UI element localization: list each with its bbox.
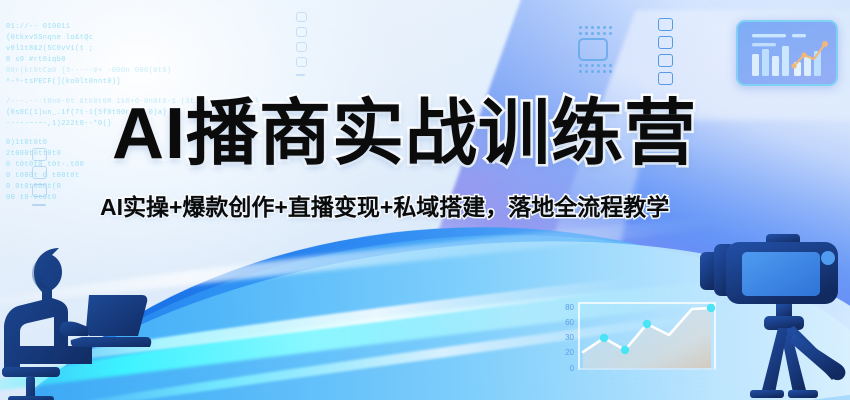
cpu-chip-icon xyxy=(578,38,608,61)
svg-text:20: 20 xyxy=(565,348,574,357)
dash-icon xyxy=(32,204,46,206)
person-at-laptop-silhouette xyxy=(0,228,171,400)
svg-text:····: ···· xyxy=(655,376,662,382)
rounded-square-icon xyxy=(658,72,673,85)
code-line: ^-^-tsPECF(](ko0lt0nnt0)] xyxy=(6,77,286,88)
svg-text:0: 0 xyxy=(570,364,575,373)
decor-square-stack-left xyxy=(32,148,47,206)
code-line: 01://-- 010011 xyxy=(6,22,286,33)
rounded-square-icon xyxy=(32,148,47,161)
bar-chart-trending-up-icon xyxy=(736,20,838,86)
svg-text:60: 60 xyxy=(565,318,574,327)
svg-text:····: ···· xyxy=(589,376,596,382)
svg-text:····: ···· xyxy=(699,376,706,382)
code-line: {0tkxv5Snqne lo&tQc xyxy=(6,33,286,44)
rounded-square-icon xyxy=(658,36,673,49)
dash-icon xyxy=(296,74,305,76)
chip-pins xyxy=(579,32,612,35)
svg-text:30: 30 xyxy=(565,333,574,342)
svg-text:···: ··· xyxy=(656,384,661,390)
code-line: 00r(kt0tCa0 {3-----#+ -000n 000(0t0} xyxy=(6,66,286,77)
line-chart: 80 60 30 20 0 ···· ··· xyxy=(552,300,722,392)
chip-pins xyxy=(579,70,612,73)
chip-pins xyxy=(579,64,612,67)
rounded-square-icon xyxy=(658,18,673,31)
chip-body xyxy=(578,38,608,61)
chip-pins xyxy=(579,26,612,29)
rounded-square-icon xyxy=(296,27,307,37)
rounded-square-icon xyxy=(296,57,307,67)
rounded-square-icon xyxy=(296,42,307,52)
svg-text:····: ···· xyxy=(611,376,618,382)
svg-text:···: ··· xyxy=(678,384,683,390)
svg-text:···: ··· xyxy=(700,384,705,390)
page-title: AI播商实战训练营 xyxy=(112,98,697,170)
decor-square-stack-right xyxy=(658,18,673,85)
rounded-square-icon xyxy=(32,166,47,179)
rounded-square-icon xyxy=(32,184,47,197)
svg-text:80: 80 xyxy=(565,303,574,312)
svg-text:····: ···· xyxy=(633,376,640,382)
code-line: 0 s0 #rt0iqb0 xyxy=(6,55,286,66)
decor-square-stack-middle xyxy=(296,12,307,76)
svg-text:····: ···· xyxy=(677,376,684,382)
page-subtitle: AI实操+爆款创作+直播变现+私域搭建，落地全流程教学 xyxy=(100,188,669,222)
rounded-square-icon xyxy=(658,54,673,67)
course-promo-banner: 01://-- 010011 {0tkxv5Snqne lo&tQc v0l1t… xyxy=(0,0,850,400)
rounded-square-icon xyxy=(296,12,307,22)
code-line: v0l1t8&2(5C0vV1(t ; xyxy=(6,44,286,55)
